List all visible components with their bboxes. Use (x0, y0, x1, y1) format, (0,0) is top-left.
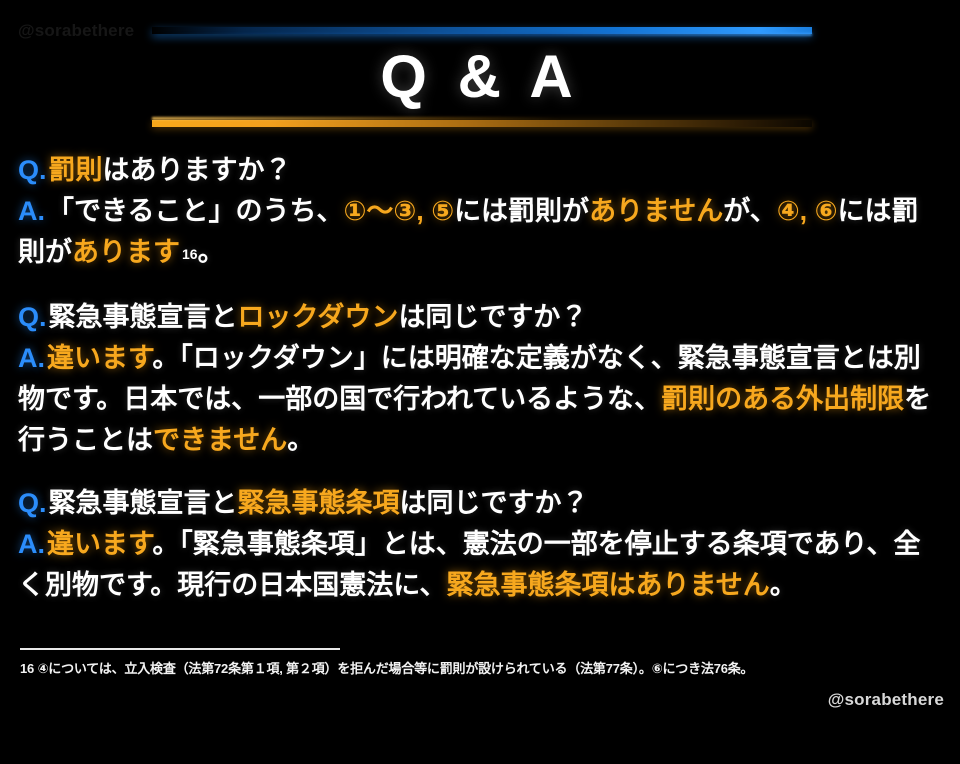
question-highlight-text: ロックダウン (238, 302, 399, 332)
qa-block: Q.緊急事態宣言と緊急事態条項は同じですか？A.違います。「緊急事態条項」とは、… (18, 483, 942, 606)
question-marker: Q. (18, 488, 47, 518)
answer-text: が、 (723, 196, 776, 226)
page-title: Q & A (0, 44, 960, 110)
question-marker: Q. (18, 155, 47, 185)
answer-highlight-text: ④, ⑥ (777, 196, 838, 226)
answer-text: 。 (198, 237, 225, 267)
question-highlight-text: 罰則 (49, 155, 103, 185)
orange-accent-rule (152, 120, 812, 127)
slide-root: @sorabethere Q & A Q.罰則はありますか？A.「できること」の… (0, 0, 960, 764)
qa-list: Q.罰則はありますか？A.「できること」のうち、①〜③, ⑤には罰則がありません… (18, 150, 942, 628)
answer-line: A.違います。「緊急事態条項」とは、憲法の一部を停止する条項であり、全く別物です… (18, 524, 942, 606)
answer-line: A.「できること」のうち、①〜③, ⑤には罰則がありませんが、④, ⑥には罰則が… (18, 191, 942, 275)
question-line: Q.緊急事態宣言と緊急事態条項は同じですか？ (18, 483, 942, 524)
watermark-bottom-right: @sorabethere (828, 690, 944, 710)
question-text: はありますか？ (103, 155, 292, 185)
answer-text: 「できること」のうち、 (47, 196, 343, 226)
answer-marker: A. (18, 529, 45, 559)
question-line: Q.緊急事態宣言とロックダウンは同じですか？ (18, 297, 942, 338)
answer-text: 。 (770, 570, 797, 600)
answer-line: A.違います。「ロックダウン」には明確な定義がなく、緊急事態宣言とは別物です。日… (18, 338, 942, 461)
answer-footnote-ref: 16 (182, 246, 198, 262)
question-marker: Q. (18, 302, 47, 332)
answer-highlight-text: 緊急事態条項はありません (447, 570, 770, 600)
blue-accent-rule (152, 27, 812, 34)
answer-marker: A. (18, 343, 45, 373)
answer-highlight-text: 違います (47, 343, 152, 373)
question-text: 緊急事態宣言と (49, 488, 238, 518)
qa-block: Q.緊急事態宣言とロックダウンは同じですか？A.違います。「ロックダウン」には明… (18, 297, 942, 461)
footnote-divider (20, 648, 340, 650)
answer-marker: A. (18, 196, 45, 226)
question-text: 緊急事態宣言と (49, 302, 238, 332)
question-text: は同じですか？ (400, 488, 589, 518)
question-text: は同じですか？ (398, 302, 587, 332)
qa-block: Q.罰則はありますか？A.「できること」のうち、①〜③, ⑤には罰則がありません… (18, 150, 942, 275)
answer-text: 。 (287, 425, 314, 455)
answer-highlight-text: あります (72, 237, 180, 267)
answer-highlight-text: ありません (589, 196, 723, 226)
answer-highlight-text: できません (153, 425, 287, 455)
question-line: Q.罰則はありますか？ (18, 150, 942, 191)
answer-highlight-text: 罰則のある外出制限 (661, 384, 904, 414)
question-highlight-text: 緊急事態条項 (238, 488, 400, 518)
slide-header: Q & A (0, 0, 960, 140)
footnote-text: 16 ④については、立入検査（法第72条第１項, 第２項）を拒んだ場合等に罰則が… (20, 659, 940, 678)
footnote: 16 ④については、立入検査（法第72条第１項, 第２項）を拒んだ場合等に罰則が… (20, 648, 940, 678)
answer-highlight-text: ①〜③, ⑤ (343, 196, 454, 226)
answer-highlight-text: 違います (47, 529, 152, 559)
answer-text: には罰則が (454, 196, 589, 226)
